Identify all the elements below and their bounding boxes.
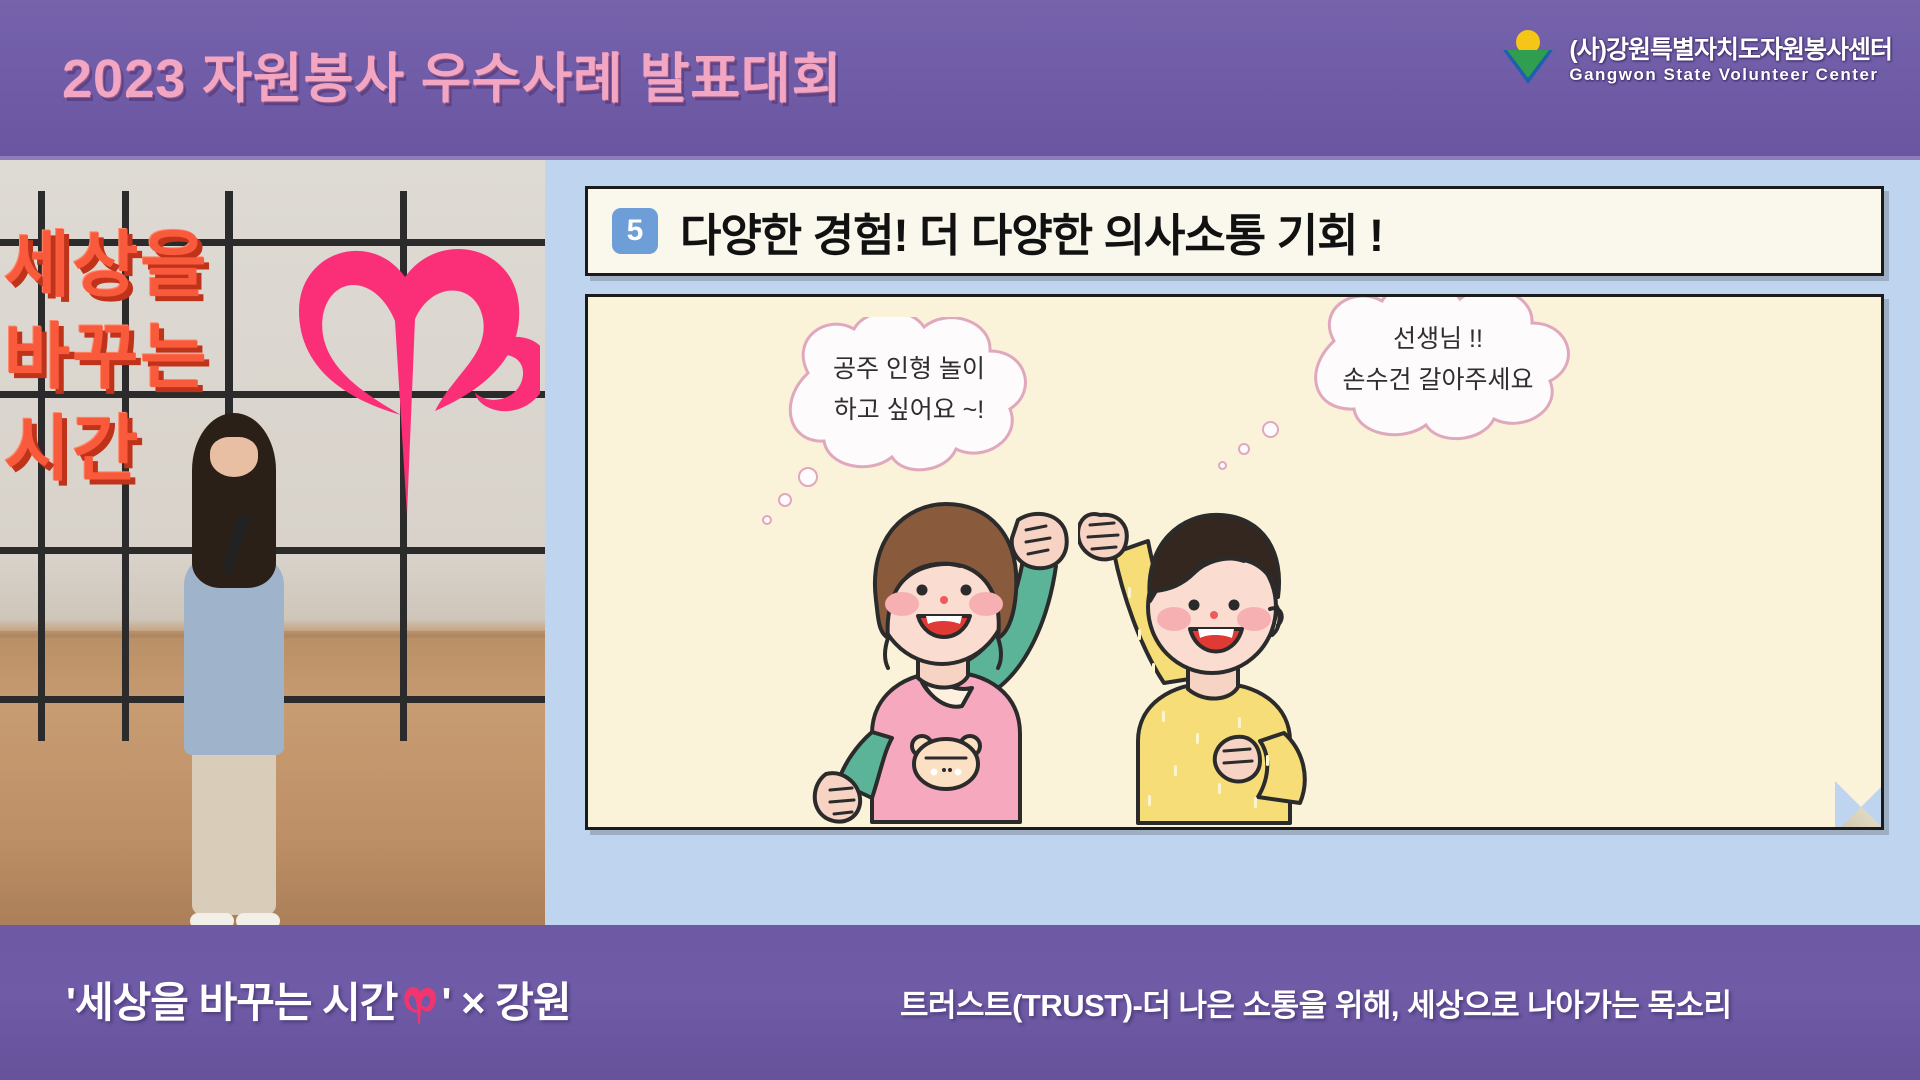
- bottom-banner: '세상을 바꾸는 시간 ' × 강원 트러스트(TRUST)-더 나은 소통을 …: [0, 925, 1920, 1080]
- main-content-row: 세상을 바꾸는 시간 5 다양한 경험! 더 다양한 의사소통 기회 !: [0, 160, 1920, 925]
- bubble-left-dot-3: [762, 515, 772, 525]
- stage-pink-heart-icon: [275, 215, 540, 515]
- presenter-shoe-right: [236, 913, 280, 925]
- bubble-right-dot-1: [1262, 421, 1279, 438]
- speech-bubble-left-text: 공주 인형 놀이 하고 싶어요 ~!: [770, 317, 1048, 477]
- speech-bubble-right-text: 선생님 !! 손수건 갈아주세요: [1288, 294, 1588, 443]
- logo-korean-name: (사)강원특별자치도자원봉사센터: [1569, 38, 1892, 63]
- bubble-left-line-2: 하고 싶어요 ~!: [834, 395, 984, 426]
- bubble-right-dot-3: [1218, 461, 1227, 470]
- logo-english-name: Gangwon State Volunteer Center: [1569, 66, 1892, 83]
- program-brand: '세상을 바꾸는 시간 ' × 강원: [66, 969, 571, 1030]
- bubble-right-dot-2: [1238, 443, 1250, 455]
- slide-title: 다양한 경험! 더 다양한 의사소통 기회 !: [680, 199, 1383, 264]
- top-banner: 2023 자원봉사 우수사례 발표대회 (사)강원특별자치도자원봉사센터 Gan…: [0, 0, 1920, 160]
- presentation-tagline: 트러스트(TRUST)-더 나은 소통을 위해, 세상으로 나아가는 목소리: [900, 980, 1732, 1025]
- bubble-right-line-2: 손수건 갈아주세요: [1343, 365, 1534, 396]
- presenter-pants: [192, 735, 276, 915]
- speech-bubble-right: 선생님 !! 손수건 갈아주세요: [1288, 294, 1588, 443]
- slide-title-box: 5 다양한 경험! 더 다양한 의사소통 기회 !: [585, 186, 1884, 276]
- logo-text-block: (사)강원특별자치도자원봉사센터 Gangwon State Volunteer…: [1569, 38, 1892, 83]
- presenter-shoe-left: [190, 913, 234, 925]
- bubble-left-dot-2: [778, 493, 792, 507]
- volunteer-center-logo-icon: [1499, 28, 1557, 92]
- boy-character-illustration: [1078, 497, 1368, 827]
- screen-root: 2023 자원봉사 우수사례 발표대회 (사)강원특별자치도자원봉사센터 Gan…: [0, 0, 1920, 1080]
- event-title: 2023 자원봉사 우수사례 발표대회: [62, 34, 842, 113]
- program-brand-prefix: '세상을 바꾸는 시간: [66, 969, 397, 1030]
- stage-sign-line-2: 바꾸는: [0, 312, 270, 404]
- girl-character-illustration: [810, 482, 1110, 827]
- speech-bubble-left: 공주 인형 놀이 하고 싶어요 ~!: [770, 317, 1048, 477]
- presenter-video-panel: 세상을 바꾸는 시간: [0, 160, 545, 925]
- bubble-right-line-1: 선생님 !!: [1393, 324, 1483, 355]
- slide-illustration-area: 공주 인형 놀이 하고 싶어요 ~! 선생님 !! 손수건 갈아주세요: [585, 294, 1884, 830]
- pink-heart-icon: [399, 982, 439, 1026]
- program-brand-suffix: ' × 강원: [441, 969, 570, 1030]
- bubble-left-line-1: 공주 인형 놀이: [833, 354, 985, 385]
- slide-number-badge: 5: [612, 208, 658, 254]
- presentation-slide: 5 다양한 경험! 더 다양한 의사소통 기회 ! 공주 인형 놀이 하고 싶어…: [545, 160, 1920, 925]
- presenter-figure: [170, 395, 300, 925]
- stage-sign-line-1: 세상을: [0, 220, 270, 312]
- organization-logo: (사)강원특별자치도자원봉사센터 Gangwon State Volunteer…: [1499, 28, 1892, 92]
